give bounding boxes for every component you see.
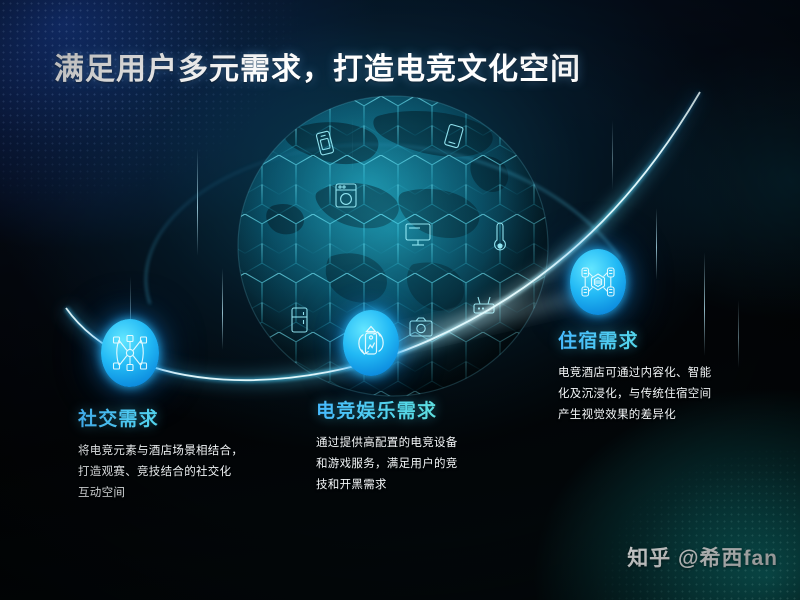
watermark: 知乎 @希西fan [627, 542, 778, 572]
block-body-line: 通过提供高配置的电竞设备 [316, 433, 516, 454]
block-body-line: 将电竞元素与酒店场景相结合， [78, 441, 293, 462]
block-body-line: 打造观赛、竞技结合的社交化 [78, 462, 293, 483]
block-body-line: 互动空间 [78, 483, 293, 504]
node-circle-lodging[interactable] [570, 249, 626, 315]
block-body-line: 化及沉浸化，与传统住宿空间 [558, 384, 758, 405]
content-block-esports: 电竞娱乐需求 通过提供高配置的电竞设备 和游戏服务，满足用户的竞 技和开黑需求 [316, 396, 516, 496]
block-body-esports: 通过提供高配置的电竞设备 和游戏服务，满足用户的竞 技和开黑需求 [316, 433, 516, 496]
block-heading-social: 社交需求 [78, 404, 293, 431]
block-body-line: 和游戏服务，满足用户的竞 [316, 454, 516, 475]
orbit-ring-graphic [0, 0, 800, 600]
block-body-lodging: 电竞酒店可通过内容化、智能 化及沉浸化，与传统住宿空间 产生视觉效果的差异化 [558, 363, 758, 426]
slide-canvas: 满足用户多元需求，打造电竞文化空间 社交需求 将电竞元素与酒店场景相结合， 打造… [0, 0, 800, 600]
content-block-social: 社交需求 将电竞元素与酒店场景相结合， 打造观赛、竞技结合的社交化 互动空间 [78, 404, 293, 504]
network-nodes-icon [112, 335, 148, 371]
block-heading-esports: 电竞娱乐需求 [316, 396, 516, 423]
block-body-line: 电竞酒店可通过内容化、智能 [558, 363, 758, 384]
page-title: 满足用户多元需求，打造电竞文化空间 [54, 44, 581, 88]
block-body-line: 技和开黑需求 [316, 475, 516, 496]
block-heading-lodging: 住宿需求 [558, 326, 758, 353]
device-refresh-icon [354, 325, 388, 361]
block-body-line: 产生视觉效果的差异化 [558, 405, 758, 426]
node-circle-esports[interactable] [343, 310, 399, 376]
smart-hub-icon [580, 265, 616, 299]
node-circle-social[interactable] [101, 319, 159, 387]
block-body-social: 将电竞元素与酒店场景相结合， 打造观赛、竞技结合的社交化 互动空间 [78, 441, 293, 504]
content-block-lodging: 住宿需求 电竞酒店可通过内容化、智能 化及沉浸化，与传统住宿空间 产生视觉效果的… [558, 326, 758, 426]
